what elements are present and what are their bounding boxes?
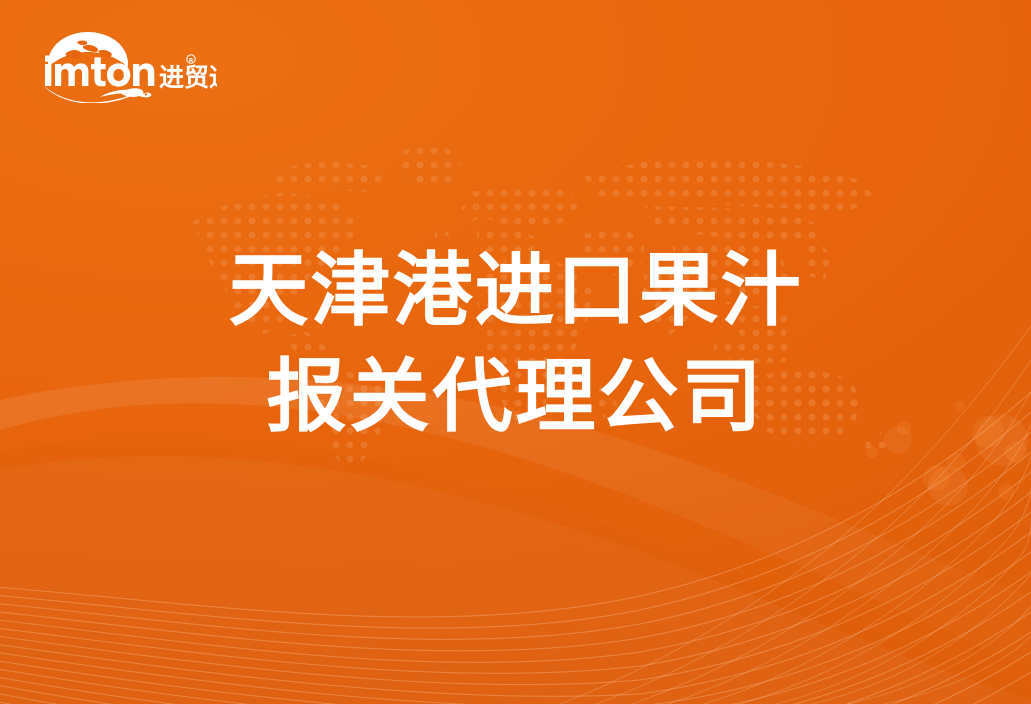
promo-banner: 进贸通 R 天津港进口果汁 报关代理公司: [0, 0, 1031, 704]
page-title: 天津港进口果汁 报关代理公司: [0, 238, 1031, 451]
svg-text:R: R: [189, 58, 194, 64]
wordmark-imton: [45, 56, 154, 87]
headline-line-2: 报关代理公司: [0, 344, 1031, 450]
brand-logo[interactable]: 进贸通 R: [42, 28, 217, 103]
swoosh-fish: [44, 86, 151, 103]
headline-line-1: 天津港进口果汁: [0, 238, 1031, 344]
logo-chinese-name: 进贸通: [159, 63, 217, 92]
trademark-icon: R: [187, 55, 195, 64]
